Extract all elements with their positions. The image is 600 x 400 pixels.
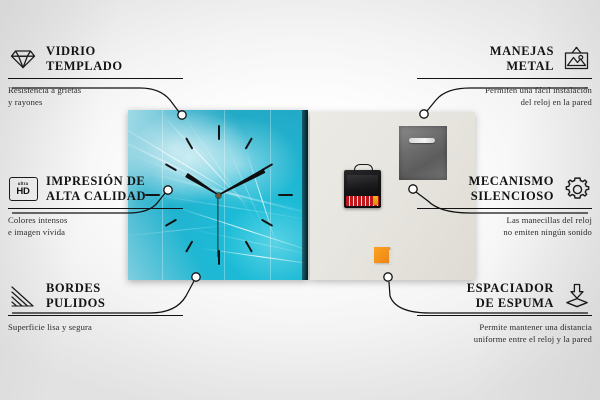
- feature-heading: MECANISMO SILENCIOSO: [417, 174, 592, 204]
- connector-marker-manejas-metal: [420, 110, 428, 118]
- feature-heading: ESPACIADOR DE ESPUMA: [417, 281, 592, 311]
- feature-impresion-alta-calidad: ultra HD IMPRESIÓN DE ALTA CALIDAD Color…: [8, 174, 183, 238]
- hd-main-label: HD: [16, 187, 29, 197]
- feature-rule: [8, 78, 183, 79]
- wall-hanging-picture-icon: [562, 44, 592, 74]
- feature-description: Resistencia a grietas y rayones: [8, 84, 183, 108]
- feature-rule: [417, 78, 592, 79]
- foam-spacer-arrow-icon: [562, 281, 592, 311]
- feature-bordes-pulidos: BORDES PULIDOS Superficie lisa y segura: [8, 281, 183, 333]
- connector-marker-mecanismo: [409, 185, 417, 193]
- feature-heading: MANEJAS METAL: [417, 44, 592, 74]
- connector-marker-vidrio-templado: [178, 111, 186, 119]
- feature-description: Permite mantener una distancia uniforme …: [417, 321, 592, 345]
- infographic-canvas: VIDRIO TEMPLADO Resistencia a grietas y …: [0, 0, 600, 400]
- feature-title: MECANISMO SILENCIOSO: [468, 174, 554, 204]
- feature-heading: BORDES PULIDOS: [8, 281, 183, 311]
- feature-rule: [417, 315, 592, 316]
- gear-icon: [562, 174, 592, 204]
- feature-vidrio-templado: VIDRIO TEMPLADO Resistencia a grietas y …: [8, 44, 183, 108]
- feature-mecanismo-silencioso: MECANISMO SILENCIOSO Las manecillas del …: [417, 174, 592, 238]
- ultra-hd-icon: ultra HD: [8, 174, 38, 204]
- feature-rule: [8, 208, 183, 209]
- feature-title: IMPRESIÓN DE ALTA CALIDAD: [46, 174, 146, 204]
- feature-description: Las manecillas del reloj no emiten ningú…: [417, 214, 592, 238]
- connector-marker-espaciador: [384, 273, 392, 281]
- feature-description: Permiten una fácil instalación del reloj…: [417, 84, 592, 108]
- feature-heading: ultra HD IMPRESIÓN DE ALTA CALIDAD: [8, 174, 183, 204]
- feature-rule: [8, 315, 183, 316]
- polished-edges-icon: [8, 281, 38, 311]
- feature-title: VIDRIO TEMPLADO: [46, 44, 123, 74]
- connector-marker-bordes-pulidos: [192, 273, 200, 281]
- feature-title: BORDES PULIDOS: [46, 281, 105, 311]
- feature-espaciador-espuma: ESPACIADOR DE ESPUMA Permite mantener un…: [417, 281, 592, 345]
- diamond-icon: [8, 44, 38, 74]
- feature-manejas-metal: MANEJAS METAL Permiten una fácil instala…: [417, 44, 592, 108]
- feature-description: Superficie lisa y segura: [8, 321, 183, 333]
- hd-badge: ultra HD: [9, 177, 38, 201]
- feature-heading: VIDRIO TEMPLADO: [8, 44, 183, 74]
- feature-rule: [417, 208, 592, 209]
- feature-description: Colores intensos e imagen vívida: [8, 214, 183, 238]
- feature-title: ESPACIADOR DE ESPUMA: [467, 281, 554, 311]
- feature-title: MANEJAS METAL: [490, 44, 554, 74]
